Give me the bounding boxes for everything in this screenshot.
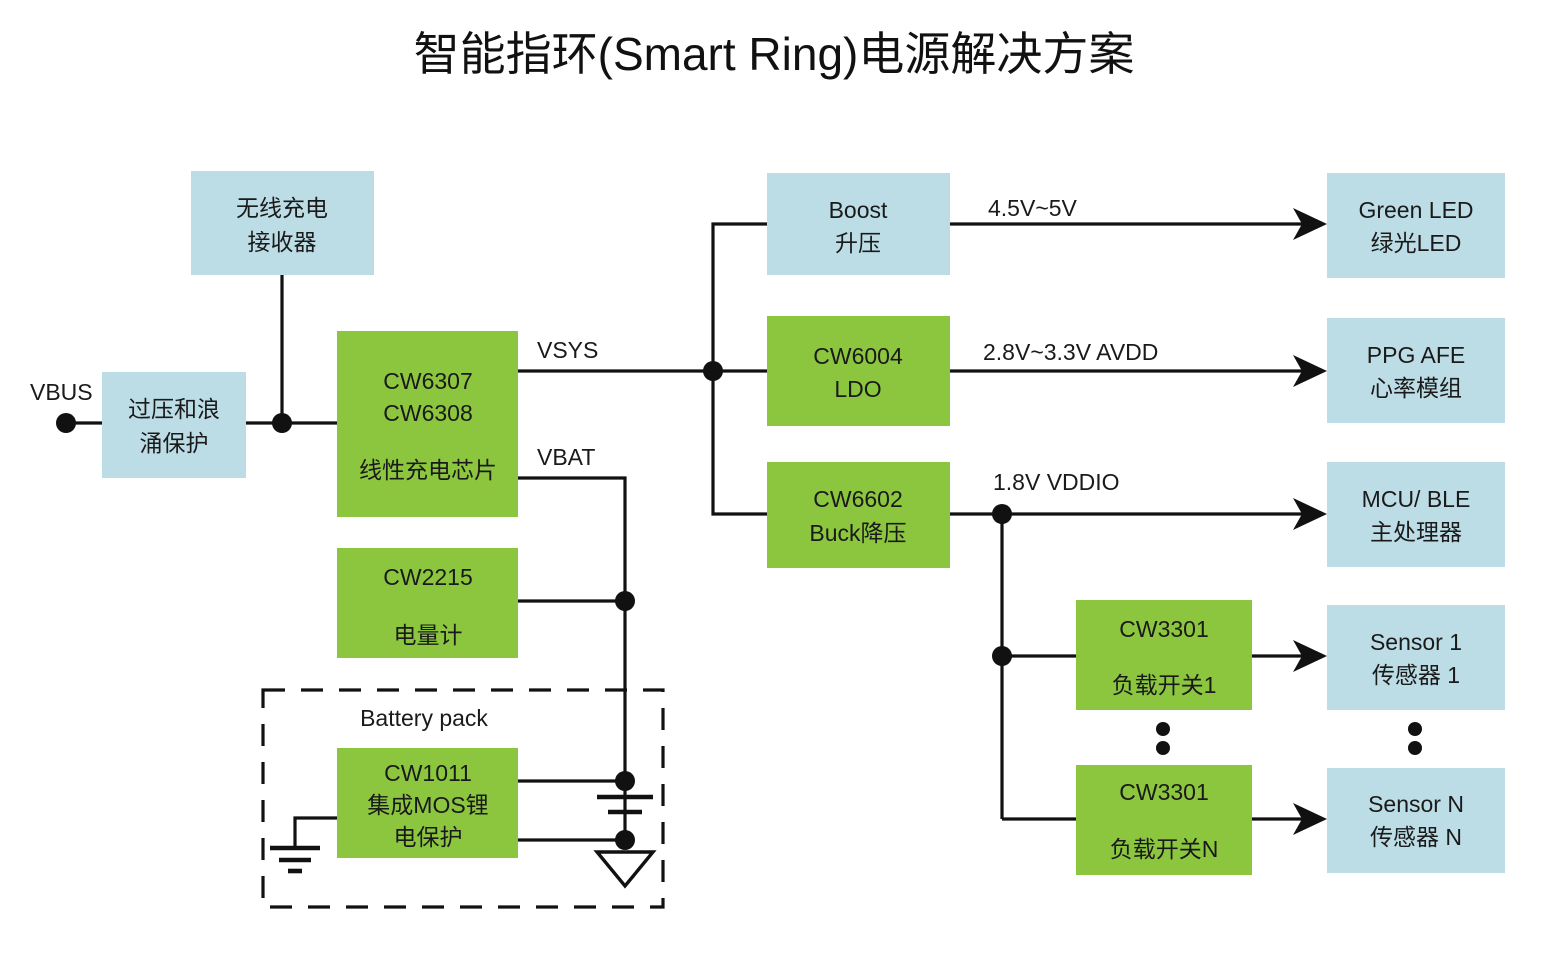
junction-dot-vbat-gauge <box>615 591 635 611</box>
fuel-gauge-line2: 电量计 <box>394 622 463 648</box>
battery-protection-line1: CW1011 <box>384 760 472 786</box>
diagram-page: 智能指环(Smart Ring)电源解决方案 <box>0 0 1549 969</box>
block-linear-charger[interactable]: CW6307 CW6308 线性充电芯片 <box>337 331 518 517</box>
battery-protection-line3: 电保护 <box>394 824 463 850</box>
green-led-line1: Green LED <box>1358 197 1473 223</box>
net-label-vbat: VBAT <box>537 444 595 470</box>
ldo-line2: LDO <box>834 376 881 402</box>
load-switch-n-line1: CW3301 <box>1119 779 1208 805</box>
ovp-line1: 过压和浪 <box>128 396 220 422</box>
ovp-line2: 涌保护 <box>140 430 209 456</box>
green-led-line2: 绿光LED <box>1371 230 1462 256</box>
boost-line2: 升压 <box>835 230 881 256</box>
ppg-afe-line1: PPG AFE <box>1367 342 1465 368</box>
block-fuel-gauge[interactable]: CW2215 电量计 <box>337 548 518 658</box>
block-battery-protection[interactable]: CW1011 集成MOS锂 电保护 <box>337 748 518 858</box>
block-sensor-1[interactable]: Sensor 1 传感器 1 <box>1327 605 1505 710</box>
net-label-buck-out: 1.8V VDDIO <box>993 469 1120 495</box>
fuel-gauge-line1: CW2215 <box>383 564 472 590</box>
sensor-1-line1: Sensor 1 <box>1370 629 1462 655</box>
charger-line1: CW6307 <box>383 368 472 394</box>
ppg-afe-line2: 心率模组 <box>1370 375 1462 401</box>
charger-line3: 线性充电芯片 <box>359 457 497 483</box>
earth-ground-symbol <box>270 848 320 871</box>
mcu-ble-line1: MCU/ BLE <box>1362 486 1471 512</box>
load-switch-1-line2: 负载开关1 <box>1112 672 1217 698</box>
block-green-led[interactable]: Green LED 绿光LED <box>1327 173 1505 278</box>
arrowhead-layer <box>1293 208 1327 835</box>
junction-dot-vbat-minus <box>615 830 635 850</box>
net-label-ldo-out: 2.8V~3.3V AVDD <box>983 339 1158 365</box>
battery-protection-line2: 集成MOS锂 <box>367 792 488 818</box>
net-label-vbus: VBUS <box>30 379 93 405</box>
junction-dot-vbus <box>272 413 292 433</box>
power-architecture-diagram: 智能指环(Smart Ring)电源解决方案 <box>0 0 1549 969</box>
wire-protect-to-earth-gnd <box>295 818 337 848</box>
net-label-vsys: VSYS <box>537 337 598 363</box>
block-mcu-ble[interactable]: MCU/ BLE 主处理器 <box>1327 462 1505 567</box>
triangle-ground-symbol <box>597 852 653 886</box>
ldo-line1: CW6004 <box>813 343 903 369</box>
wire-vbat-rail <box>518 478 625 840</box>
block-ppg-afe[interactable]: PPG AFE 心率模组 <box>1327 318 1505 423</box>
vertical-ellipsis-switches <box>1156 722 1170 755</box>
block-sensor-n[interactable]: Sensor N 传感器 N <box>1327 768 1505 873</box>
vertical-ellipsis-sensors <box>1408 722 1422 755</box>
charger-line2: CW6308 <box>383 400 472 426</box>
buck-line2: Buck降压 <box>809 520 906 546</box>
block-ovp-protection[interactable]: 过压和浪 涌保护 <box>102 372 246 478</box>
block-boost[interactable]: Boost 升压 <box>767 173 950 275</box>
block-wireless-receiver[interactable]: 无线充电 接收器 <box>191 171 374 275</box>
sensor-n-line1: Sensor N <box>1368 791 1464 817</box>
junction-dot-vsys <box>703 361 723 381</box>
block-load-switch-n[interactable]: CW3301 负载开关N <box>1076 765 1252 875</box>
wire-vsys-to-buck <box>713 371 767 514</box>
net-label-boost-out: 4.5V~5V <box>988 195 1078 221</box>
terminal-dot-vbus <box>56 413 76 433</box>
buck-line1: CW6602 <box>813 486 902 512</box>
load-switch-1-line1: CW3301 <box>1119 616 1208 642</box>
junction-dot-vbat-plus <box>615 771 635 791</box>
block-load-switch-1[interactable]: CW3301 负载开关1 <box>1076 600 1252 710</box>
wire-vsys-to-boost <box>713 224 767 371</box>
page-title: 智能指环(Smart Ring)电源解决方案 <box>414 28 1135 80</box>
wireless-receiver-line1: 无线充电 <box>236 195 328 221</box>
wire-layer <box>66 224 1305 848</box>
sensor-n-line2: 传感器 N <box>1370 824 1462 850</box>
block-ldo[interactable]: CW6004 LDO <box>767 316 950 426</box>
block-buck[interactable]: CW6602 Buck降压 <box>767 462 950 568</box>
boost-line1: Boost <box>829 197 888 223</box>
junction-dot-vddio-ls1 <box>992 646 1012 666</box>
battery-pack-label: Battery pack <box>360 705 488 731</box>
sensor-1-line2: 传感器 1 <box>1372 662 1460 688</box>
junction-dot-vddio <box>992 504 1012 524</box>
mcu-ble-line2: 主处理器 <box>1370 519 1462 545</box>
wireless-receiver-line2: 接收器 <box>248 229 317 255</box>
load-switch-n-line2: 负载开关N <box>1110 836 1219 862</box>
